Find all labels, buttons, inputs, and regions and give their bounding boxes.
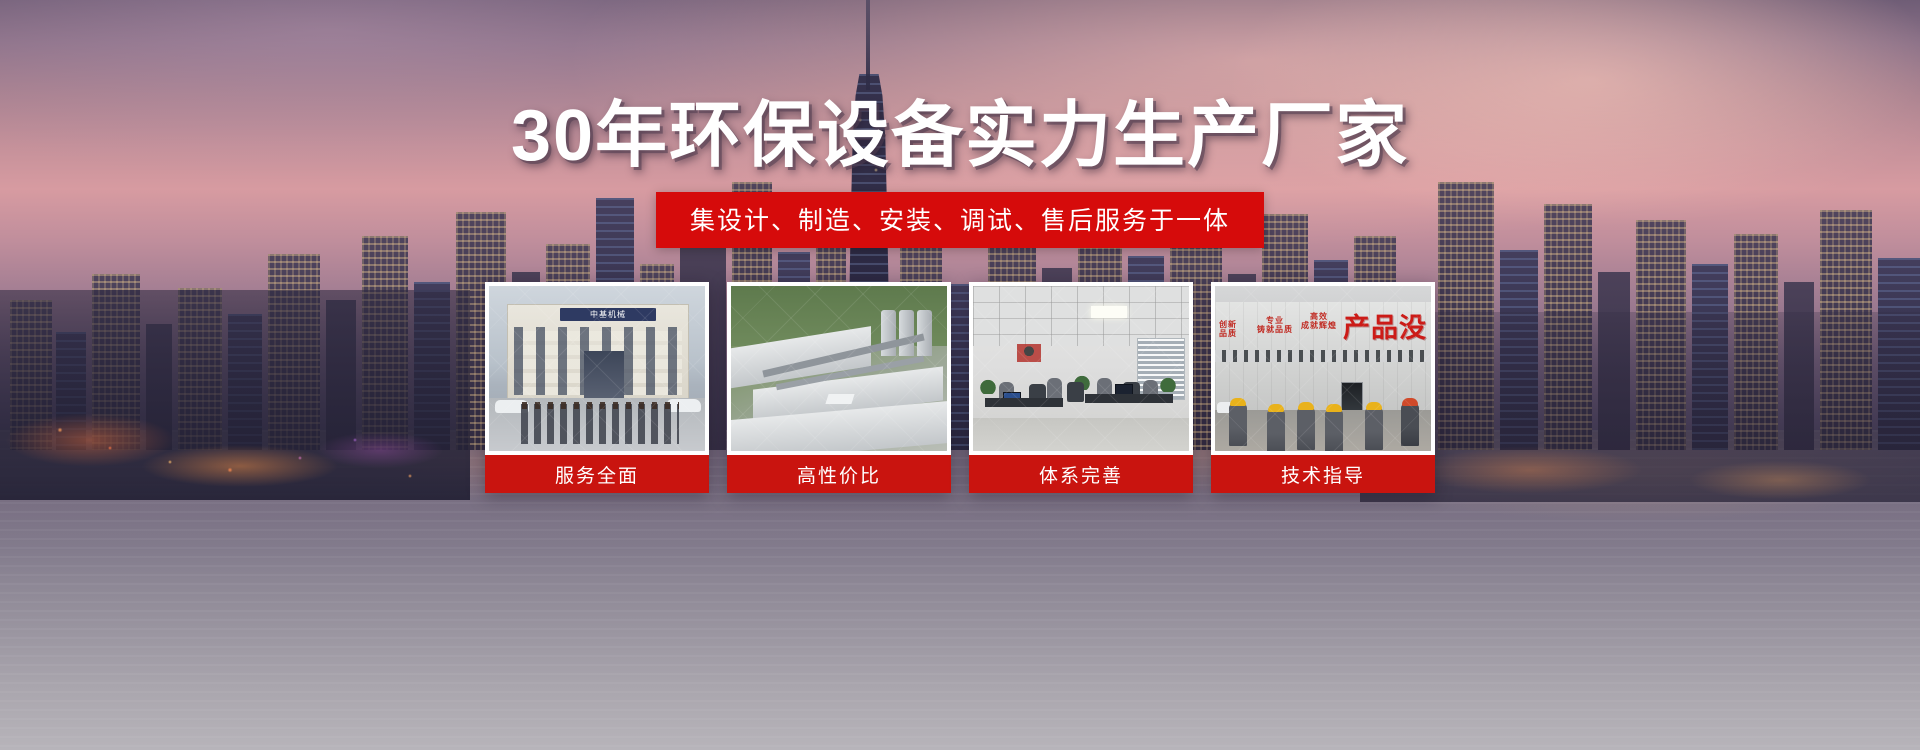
card-photo-factory-workers: 产品没 创新品质 专业铸就品质 高效成就辉煌 — [1215, 286, 1431, 451]
card-caption: 高性价比 — [727, 455, 951, 493]
page-title: 30年环保设备实力生产厂家 — [0, 100, 1920, 172]
feature-card[interactable]: 体系完善 — [969, 282, 1193, 493]
hero-banner: 30年环保设备实力生产厂家 集设计、制造、安装、调试、售后服务于一体 中基机械 … — [0, 0, 1920, 750]
card-photo-plant-aerial — [731, 286, 947, 451]
card-photo-office-interior — [973, 286, 1189, 451]
feature-card[interactable]: 高性价比 — [727, 282, 951, 493]
card-photo-office-building: 中基机械 — [489, 286, 705, 451]
feature-card-row: 中基机械 服务全面 — [485, 282, 1435, 493]
building-sign: 中基机械 — [560, 308, 656, 321]
riverbank-right — [1360, 312, 1920, 502]
card-caption: 体系完善 — [969, 455, 1193, 493]
feature-card[interactable]: 产品没 创新品质 专业铸就品质 高效成就辉煌 技术指导 — [1211, 282, 1435, 493]
tower-spire — [866, 0, 870, 90]
card-caption: 服务全面 — [485, 455, 709, 493]
factory-wall-slogan: 产品没 — [1343, 306, 1427, 345]
card-caption: 技术指导 — [1211, 455, 1435, 493]
subtitle-banner: 集设计、制造、安装、调试、售后服务于一体 — [656, 192, 1264, 248]
feature-card[interactable]: 中基机械 服务全面 — [485, 282, 709, 493]
